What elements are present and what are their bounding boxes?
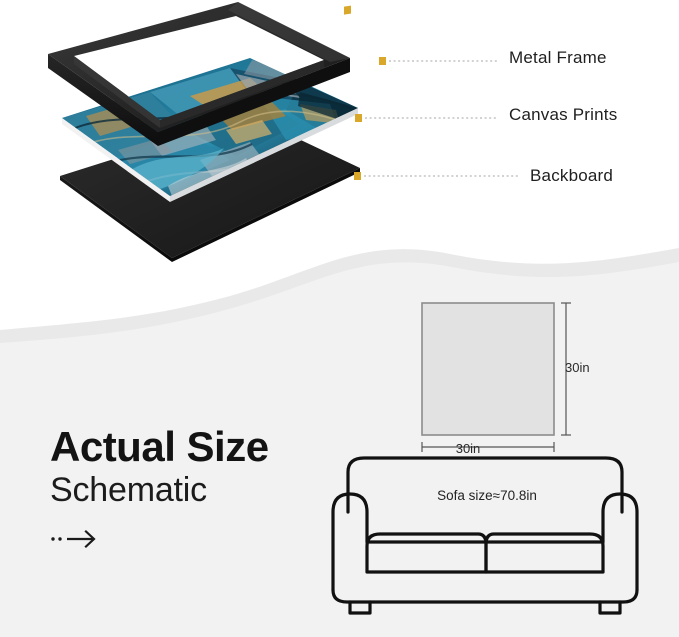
callout-label-backboard: Backboard <box>530 166 613 186</box>
frame-size-diagram <box>400 290 650 470</box>
schematic-headline-block: Actual Size Schematic <box>50 425 269 555</box>
sofa-cushion-right <box>486 534 603 572</box>
sofa-size-label: Sofa size≈70.8in <box>437 488 537 503</box>
sofa-leg-left <box>350 602 370 613</box>
callout-label-canvas-prints: Canvas Prints <box>509 105 617 125</box>
callout-leader-lines <box>0 0 679 280</box>
anchor-dot-backboard-icon <box>354 172 361 180</box>
sofa-leg-right <box>600 602 620 613</box>
anchor-dot-metal-frame-icon <box>379 57 386 65</box>
infographic-canvas: Metal Frame Canvas Prints Backboard Actu… <box>0 0 679 637</box>
anchor-dot-canvas-prints-icon <box>355 114 362 122</box>
headline-actual-size: Actual Size <box>50 425 269 469</box>
dimension-label-height: 30in <box>565 360 590 375</box>
dotted-right-arrow-icon <box>50 528 269 555</box>
callout-label-metal-frame: Metal Frame <box>509 48 607 68</box>
headline-schematic: Schematic <box>50 471 269 510</box>
frame-size-square <box>422 303 554 435</box>
sofa-outline-icon <box>330 450 640 615</box>
sofa-backrest <box>348 458 622 512</box>
sofa-cushion-left <box>367 534 486 572</box>
sofa-arm-left <box>333 590 637 602</box>
